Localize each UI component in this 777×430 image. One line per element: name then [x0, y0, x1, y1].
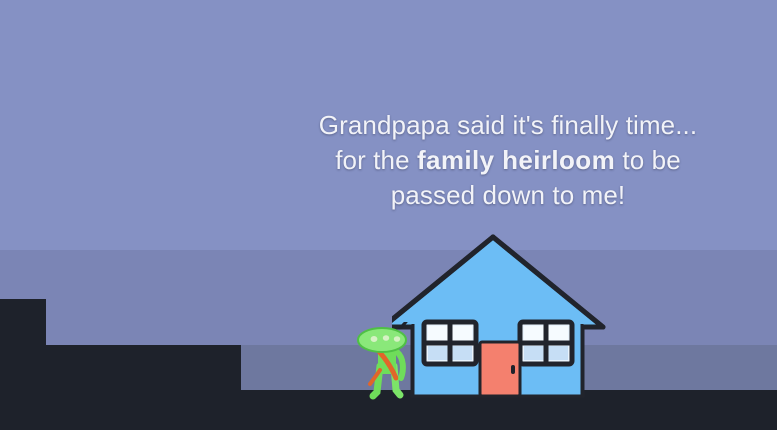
dialogue-line-2: for the family heirloom to be — [248, 143, 768, 178]
creature-spot-1 — [371, 336, 378, 342]
door-knob — [511, 365, 515, 374]
dialogue-line-2-prefix: for the — [335, 145, 417, 175]
creature-held-item — [400, 322, 406, 328]
dialogue-line-2-suffix: to be — [615, 145, 681, 175]
house-roof — [392, 237, 603, 327]
house-window-left — [424, 322, 476, 364]
dialogue-line-3: passed down to me! — [248, 178, 768, 213]
creature-character — [356, 322, 412, 398]
terrain-step-left — [0, 299, 46, 395]
game-scene: Grandpapa said it's finally time... for … — [0, 0, 777, 430]
house — [392, 230, 612, 400]
creature-spot-3 — [394, 336, 400, 342]
house-window-right — [520, 322, 572, 364]
creature-spot-2 — [383, 335, 389, 341]
dialogue-text: Grandpapa said it's finally time... for … — [248, 108, 768, 213]
house-door — [480, 342, 520, 396]
dialogue-line-1: Grandpapa said it's finally time... — [248, 108, 768, 143]
dialogue-highlight-family-heirloom: family heirloom — [417, 145, 615, 175]
ground-platform-right — [580, 398, 777, 430]
terrain-step-middle — [45, 345, 241, 395]
